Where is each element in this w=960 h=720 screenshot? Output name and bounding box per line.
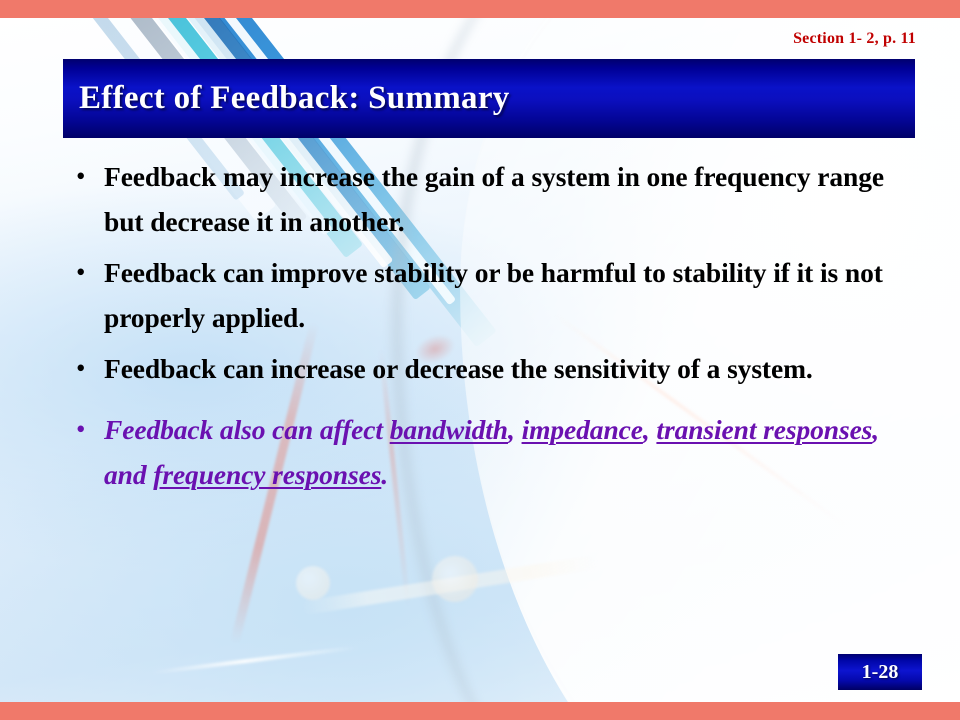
bullet-text-segment: .	[381, 459, 388, 490]
bullet-marker-icon: •	[72, 407, 104, 452]
bullet-term-underlined: bandwidth	[390, 414, 508, 445]
bullet-text-segment: Feedback can increase or decrease the se…	[104, 353, 813, 384]
bullet-text: Feedback can improve stability or be har…	[104, 250, 902, 340]
bullet-item: •Feedback also can affect bandwidth, imp…	[72, 407, 902, 497]
bullet-text: Feedback also can affect bandwidth, impe…	[104, 407, 902, 497]
title-bar: Effect of Feedback: Summary	[63, 59, 915, 138]
bullet-term-underlined: frequency responses	[153, 459, 381, 490]
bullet-text-segment: Feedback can improve stability or be har…	[104, 257, 883, 333]
bullet-term-underlined: transient responses	[656, 414, 872, 445]
presentation-slide: Section 1- 2, p. 11 Effect of Feedback: …	[0, 0, 960, 720]
bullet-text-segment: ,	[508, 414, 522, 445]
bullet-text-segment: Feedback also can affect	[104, 414, 390, 445]
page-number-text: 1-28	[862, 661, 899, 684]
bullet-marker-icon: •	[72, 250, 104, 295]
bullet-term-underlined: impedance	[522, 414, 643, 445]
top-accent-band	[0, 0, 960, 18]
page-number-badge: 1-28	[838, 654, 922, 690]
bullet-text-segment: Feedback may increase the gain of a syst…	[104, 161, 884, 237]
bullet-text: Feedback may increase the gain of a syst…	[104, 154, 902, 244]
bullet-list: •Feedback may increase the gain of a sys…	[72, 154, 902, 503]
bullet-item: •Feedback can increase or decrease the s…	[72, 346, 902, 391]
bullet-item: •Feedback may increase the gain of a sys…	[72, 154, 902, 244]
bullet-item: •Feedback can improve stability or be ha…	[72, 250, 902, 340]
section-reference: Section 1- 2, p. 11	[793, 30, 916, 48]
background-knob-shape-secondary	[432, 556, 478, 602]
slide-title: Effect of Feedback: Summary	[79, 79, 510, 116]
bullet-text: Feedback can increase or decrease the se…	[104, 346, 902, 391]
background-knob-shape	[296, 566, 330, 600]
bullet-marker-icon: •	[72, 346, 104, 391]
bullet-marker-icon: •	[72, 154, 104, 199]
bullet-text-segment: ,	[643, 414, 657, 445]
bottom-accent-band	[0, 702, 960, 720]
